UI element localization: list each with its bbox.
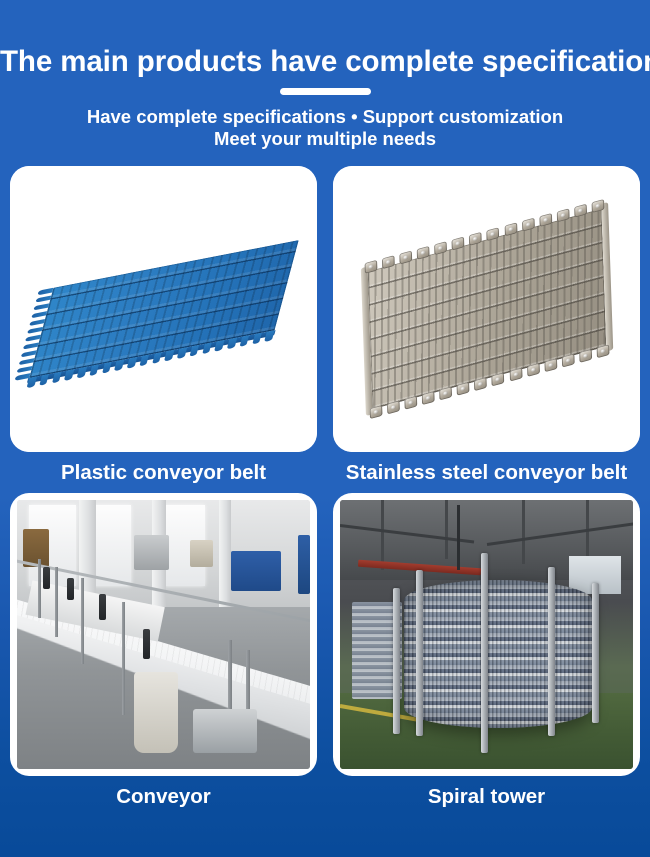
- product-label-stainless-steel-conveyor-belt: Stainless steel conveyor belt: [333, 452, 640, 493]
- plastic-belt-body: [29, 240, 299, 378]
- product-cell-plastic-conveyor-belt[interactable]: Plastic conveyor belt: [10, 166, 317, 493]
- conveyor-leg-3: [81, 578, 84, 664]
- conveyor-bracket-3: [99, 594, 106, 620]
- roof-rafter-2: [445, 500, 448, 559]
- tower-column-5: [393, 588, 400, 733]
- workshop-window-2: [93, 505, 131, 586]
- roof-rafter-1: [381, 500, 384, 570]
- tower-column-1: [416, 570, 423, 737]
- workshop-curtain-right: [298, 535, 310, 594]
- product-card-image[interactable]: [333, 166, 640, 452]
- subtitle-line-2: Meet your multiple needs: [0, 128, 650, 150]
- product-card-image[interactable]: [10, 493, 317, 776]
- product-cell-conveyor[interactable]: Conveyor: [10, 493, 317, 817]
- tower-column-3: [548, 567, 555, 736]
- spiral-tower-photo: [340, 500, 633, 769]
- header: The main products have complete specific…: [0, 0, 650, 150]
- product-card-image[interactable]: [333, 493, 640, 776]
- spiral-tower-body: [404, 580, 592, 728]
- product-card-image[interactable]: [10, 166, 317, 452]
- tower-column-2: [481, 553, 488, 752]
- product-label-spiral-tower: Spiral tower: [333, 776, 640, 817]
- roof-rafter-3: [522, 500, 525, 565]
- steel-belt-body: [367, 209, 606, 409]
- crane-hoist-cable: [457, 505, 460, 570]
- conveyor-end-drum: [193, 709, 257, 752]
- conveyor-scene: [17, 500, 310, 769]
- subtitle-line-1: Have complete specifications • Support c…: [87, 106, 563, 127]
- conveyor-photo: [17, 500, 310, 769]
- conveyor-dust-bag: [134, 672, 178, 753]
- conveyor-bracket-2: [67, 578, 74, 600]
- product-label-plastic-conveyor-belt: Plastic conveyor belt: [10, 452, 317, 493]
- subtitle: Have complete specifications • Support c…: [0, 106, 650, 150]
- spiral-tower-scene: [340, 500, 633, 769]
- tower-column-4: [592, 583, 599, 723]
- product-cell-stainless-steel-conveyor-belt[interactable]: Stainless steel conveyor belt: [333, 166, 640, 493]
- plastic-belt-illustration: [10, 166, 317, 452]
- conveyor-bracket-4: [143, 629, 150, 659]
- title-divider-wrap: [0, 78, 650, 104]
- workshop-machine-center: [134, 535, 169, 570]
- conveyor-bracket-1: [43, 567, 50, 589]
- product-cell-spiral-tower[interactable]: Spiral tower: [333, 493, 640, 817]
- conveyor-leg-4: [122, 602, 125, 715]
- workshop-cart-right: [231, 551, 281, 591]
- title-divider: [280, 88, 371, 95]
- conveyor-leg-1: [38, 559, 41, 618]
- conveyor-leg-2: [55, 567, 58, 637]
- steel-belt-illustration: [333, 166, 640, 452]
- product-specifications-banner: The main products have complete specific…: [0, 0, 650, 857]
- product-label-conveyor: Conveyor: [10, 776, 317, 817]
- product-grid: Plastic conveyor belt: [0, 166, 650, 816]
- page-title: The main products have complete specific…: [0, 46, 650, 78]
- workshop-crate-right: [190, 540, 213, 567]
